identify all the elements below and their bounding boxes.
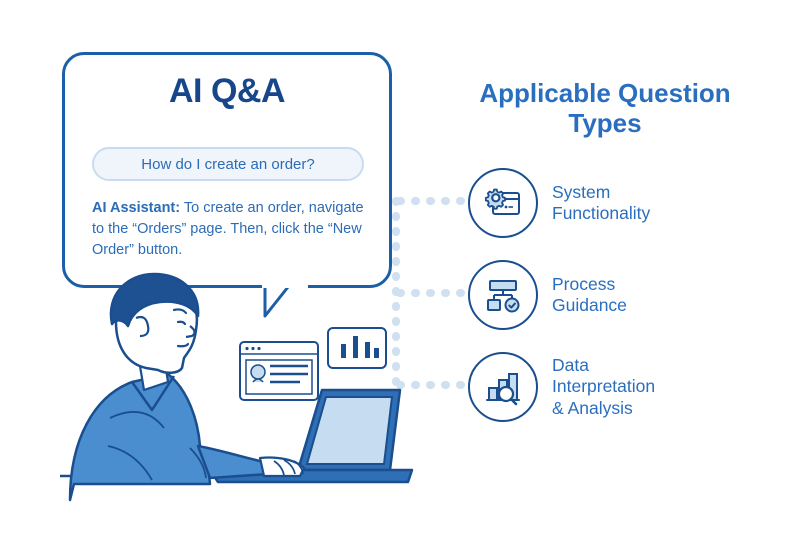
category-icon-circle xyxy=(468,168,538,238)
gear-window-icon xyxy=(482,182,524,224)
bar-chart-magnifier-icon xyxy=(482,366,524,408)
category-item-process-guidance[interactable]: Process Guidance xyxy=(468,260,627,330)
category-label-line1: Data xyxy=(552,355,655,376)
category-label-line1: Process xyxy=(552,274,627,295)
category-label-line3: & Analysis xyxy=(552,398,655,419)
category-icon-circle xyxy=(468,352,538,422)
category-label: System Functionality xyxy=(552,182,650,225)
ai-answer-label: AI Assistant: xyxy=(92,200,180,216)
right-panel-heading-line1: Applicable Question xyxy=(440,78,770,108)
person-hand xyxy=(260,457,304,476)
category-item-system-functionality[interactable]: System Functionality xyxy=(468,168,650,238)
right-panel-heading: Applicable Question Types xyxy=(440,78,770,139)
browser-window-card xyxy=(240,342,318,400)
page-title: AI Q&A xyxy=(62,72,392,111)
category-label: Data Interpretation & Analysis xyxy=(552,355,655,419)
ai-answer: AI Assistant: To create an order, naviga… xyxy=(92,198,377,261)
category-label-line2: Interpretation xyxy=(552,376,655,397)
category-icon-circle xyxy=(468,260,538,330)
category-label-line1: System xyxy=(552,182,650,203)
category-item-data-interpretation[interactable]: Data Interpretation & Analysis xyxy=(468,352,655,422)
infographic-canvas: AI Q&A How do I create an order? AI Assi… xyxy=(0,0,800,533)
person-arm xyxy=(198,446,268,478)
category-label: Process Guidance xyxy=(552,274,627,317)
user-question-text: How do I create an order? xyxy=(92,147,364,181)
category-label-line2: Functionality xyxy=(552,203,650,224)
person-at-laptop-illustration xyxy=(60,270,460,510)
flowchart-check-icon xyxy=(482,274,524,316)
right-panel-heading-line2: Types xyxy=(440,108,770,138)
bar-chart-card xyxy=(328,328,386,368)
category-label-line2: Guidance xyxy=(552,295,627,316)
